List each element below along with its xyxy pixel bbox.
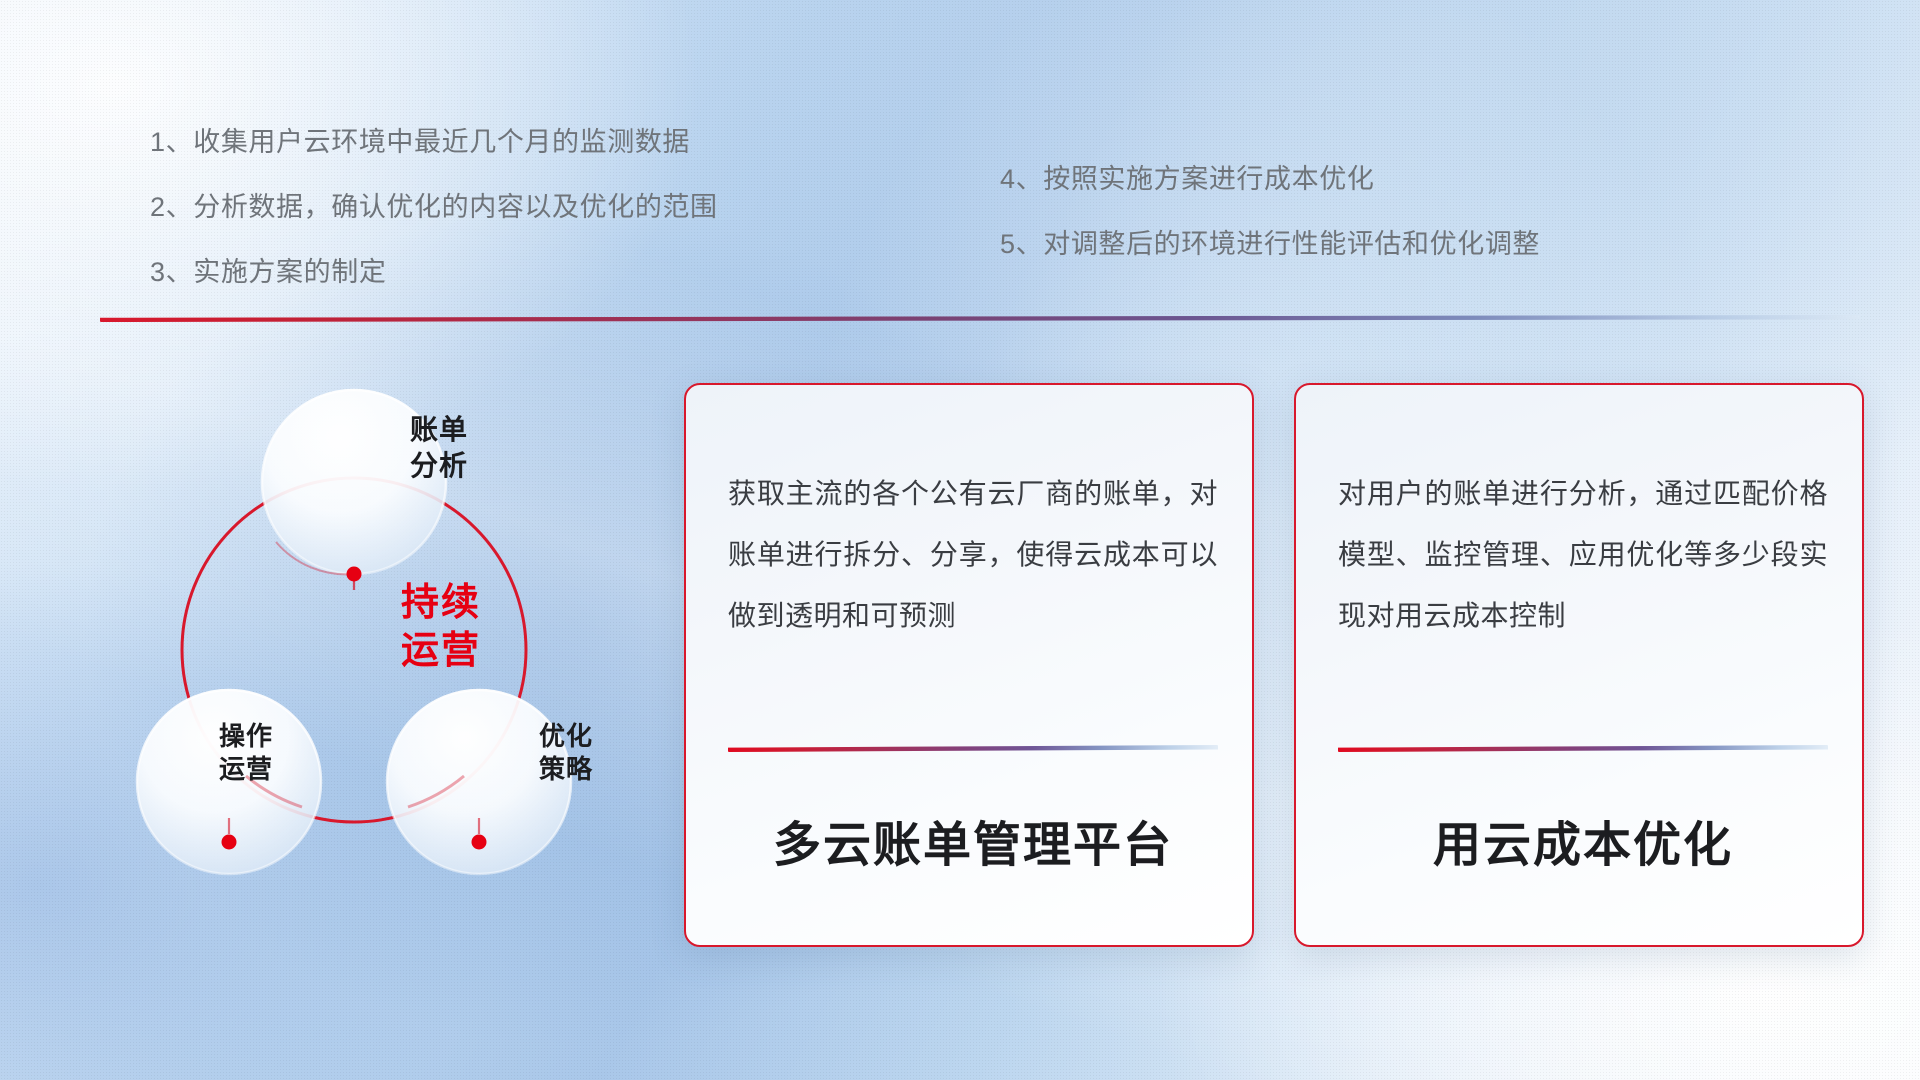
section-divider-rule: [100, 315, 1860, 322]
card-cloud-cost-optimization[interactable]: 对用户的账单进行分析，通过匹配价格模型、监控管理、应用优化等多少段实现对用云成本…: [1294, 383, 1864, 947]
steps-list-right: 4、按照实施方案进行成本优化 5、对调整后的环境进行性能评估和优化调整: [1000, 157, 1540, 287]
venn-label-optimization-strategy: 优化 策略: [486, 720, 646, 787]
step-item: 3、实施方案的制定: [150, 250, 718, 289]
card-multicloud-bill-platform[interactable]: 获取主流的各个公有云厂商的账单，对账单进行拆分、分享，使得云成本可以做到透明和可…: [684, 383, 1254, 947]
card-divider-rule: [728, 745, 1218, 752]
step-item: 4、按照实施方案进行成本优化: [1000, 157, 1540, 196]
step-item: 5、对调整后的环境进行性能评估和优化调整: [1000, 222, 1540, 261]
venn-label-bill-analysis: 账单 分析: [354, 412, 524, 484]
step-item: 1、收集用户云环境中最近几个月的监测数据: [150, 120, 718, 159]
step-item: 2、分析数据，确认优化的内容以及优化的范围: [150, 185, 718, 224]
continuous-operation-venn-diagram: 账单 分析 操作 运营 优化 策略 持续 运营: [96, 352, 616, 952]
venn-label-continuous-operation: 持续 运营: [356, 580, 526, 675]
card-body-text: 对用户的账单进行分析，通过匹配价格模型、监控管理、应用优化等多少段实现对用云成本…: [1338, 463, 1828, 646]
card-divider-rule: [1338, 745, 1828, 752]
card-body-text: 获取主流的各个公有云厂商的账单，对账单进行拆分、分享，使得云成本可以做到透明和可…: [728, 463, 1218, 646]
steps-list-left: 1、收集用户云环境中最近几个月的监测数据 2、分析数据，确认优化的内容以及优化的…: [150, 120, 718, 315]
venn-label-operation: 操作 运营: [166, 720, 326, 787]
card-title: 多云账单管理平台: [728, 805, 1218, 875]
card-title: 用云成本优化: [1338, 805, 1828, 875]
